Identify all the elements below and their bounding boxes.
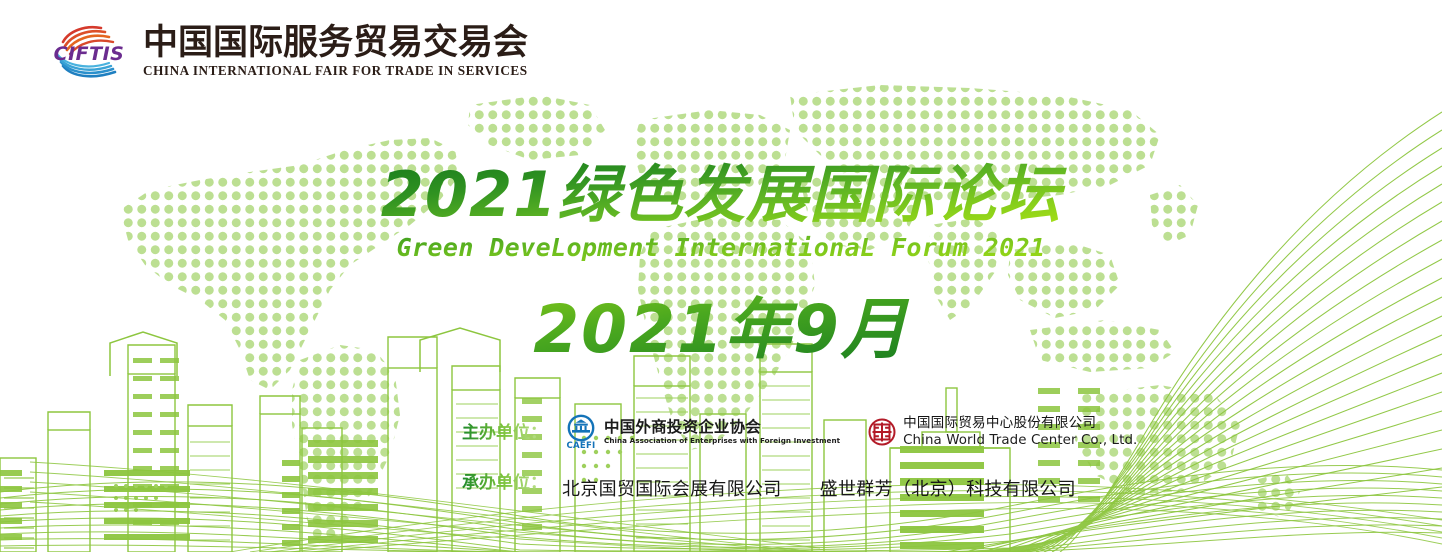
cwtc-name-cn: 中国国际贸易中心股份有限公司 — [903, 416, 1137, 431]
event-date-text: 2021年9月 — [533, 291, 910, 368]
host-label: 主办单位： — [462, 419, 556, 445]
brand-title-en: CHINA INTERNATIONAL FAIR FOR TRADE IN SE… — [143, 63, 528, 79]
cwtc-name-en: China World Trade Center Co., Ltd. — [903, 434, 1137, 448]
host-unit-cwtc: 中国国际贸易中心股份有限公司 China World Trade Center … — [868, 416, 1137, 448]
svg-text:CAEFI: CAEFI — [567, 441, 596, 450]
poster-root: CIFTIS 中国国际服务贸易交易会 CHINA INTERNATIONAL F… — [0, 0, 1442, 552]
main-title-cn: 2021绿色发展国际论坛 — [341, 160, 1101, 232]
main-title-text: 2021绿色发展国际论坛 — [381, 160, 1068, 231]
executor-name-1: 北京国贸国际会展有限公司 — [562, 479, 782, 500]
executor-row: 承办单位： 北京国贸国际会展有限公司 盛世群芳（北京）科技有限公司 — [462, 469, 1137, 501]
organizer-section: 主办单位： CAEFI 中国外商投资企业协会 China Association… — [462, 414, 1137, 501]
executor-label-text: 承办单位： — [462, 472, 547, 493]
svg-text:CIFTIS: CIFTIS — [54, 43, 125, 65]
title-block: 2021绿色发展国际论坛 Green DeveLopment Internati… — [0, 160, 1442, 368]
caefi-name-cn: 中国外商投资企业协会 — [604, 419, 840, 436]
cwtc-logo-icon — [868, 418, 896, 446]
executor-names: 北京国贸国际会展有限公司 盛世群芳（北京）科技有限公司 — [562, 475, 1076, 501]
host-unit-caefi: CAEFI 中国外商投资企业协会 China Association of En… — [565, 414, 840, 450]
caefi-name-en: China Association of Enterprises with Fo… — [604, 437, 840, 445]
ciftis-brand-lockup: CIFTIS 中国国际服务贸易交易会 CHINA INTERNATIONAL F… — [47, 22, 528, 82]
executor-name-2: 盛世群芳（北京）科技有限公司 — [820, 479, 1076, 500]
host-label-text: 主办单位： — [462, 422, 547, 443]
brand-title-cn: 中国国际服务贸易交易会 — [143, 25, 528, 62]
caefi-logo-icon: CAEFI — [565, 414, 597, 450]
host-row: 主办单位： CAEFI 中国外商投资企业协会 China Association… — [462, 414, 1137, 450]
main-subtitle-text: Green DeveLopment InternationaL Forum 20… — [397, 233, 1046, 262]
ciftis-logo-icon: CIFTIS — [47, 22, 131, 82]
event-date: 2021年9月 — [501, 290, 941, 368]
executor-label: 承办单位： — [462, 469, 556, 495]
main-title-en: Green DeveLopment InternationaL Forum 20… — [341, 228, 1101, 268]
